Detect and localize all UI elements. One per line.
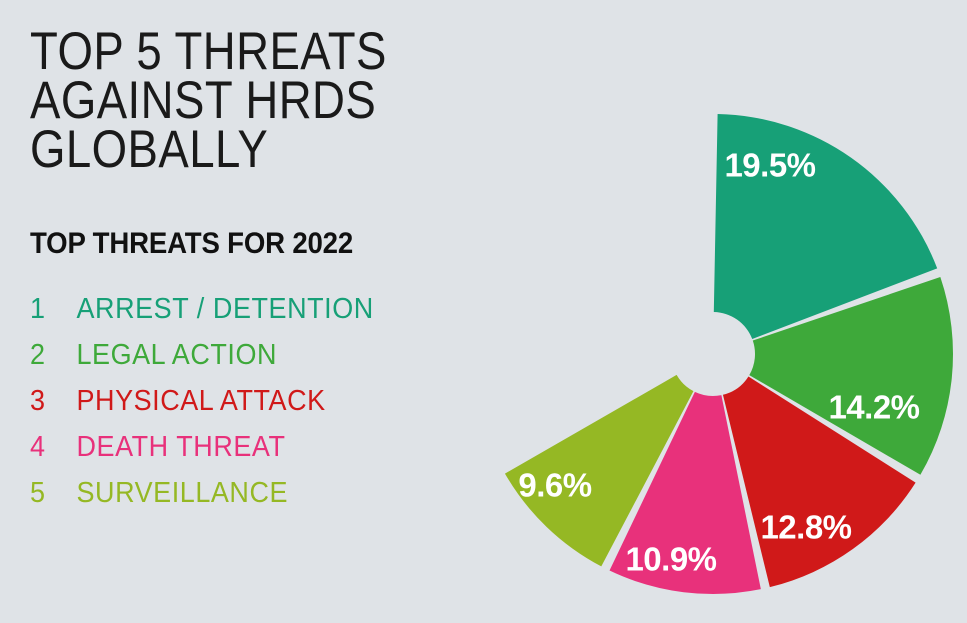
list-item: 3 PHYSICAL ATTACK [30, 385, 514, 431]
donut-slices-group [505, 114, 953, 594]
slice-value-label: 9.6% [518, 467, 591, 504]
slice-value-label: 12.8% [760, 509, 851, 546]
slice-value-label: 14.2% [828, 389, 919, 426]
slice-value-label: 10.9% [625, 541, 716, 578]
threat-label: DEATH THREAT [77, 431, 286, 464]
threat-label: ARREST / DETENTION [77, 293, 374, 326]
slice-value-label: 19.5% [724, 147, 815, 184]
infographic-page: TOP 5 THREATS AGAINST HRDS GLOBALLY TOP … [0, 0, 967, 623]
threat-rank: 5 [30, 477, 77, 510]
list-item: 2 LEGAL ACTION [30, 339, 514, 385]
threat-label: LEGAL ACTION [77, 339, 278, 372]
threat-label: SURVEILLANCE [77, 477, 289, 510]
page-title: TOP 5 THREATS AGAINST HRDS GLOBALLY [30, 28, 477, 174]
donut-chart: 19.5%14.2%12.8%10.9%9.6% [470, 100, 967, 623]
list-item: 4 DEATH THREAT [30, 431, 514, 477]
threat-rank: 1 [30, 293, 77, 326]
donut-chart-svg: 19.5%14.2%12.8%10.9%9.6% [470, 100, 967, 623]
list-item: 5 SURVEILLANCE [30, 477, 514, 523]
section-subtitle: TOP THREATS FOR 2022 [30, 227, 508, 261]
list-item: 1 ARREST / DETENTION [30, 293, 514, 339]
threat-label: PHYSICAL ATTACK [77, 385, 326, 418]
threat-rank: 4 [30, 431, 77, 464]
threat-rank: 2 [30, 339, 77, 372]
threat-rank: 3 [30, 385, 77, 418]
